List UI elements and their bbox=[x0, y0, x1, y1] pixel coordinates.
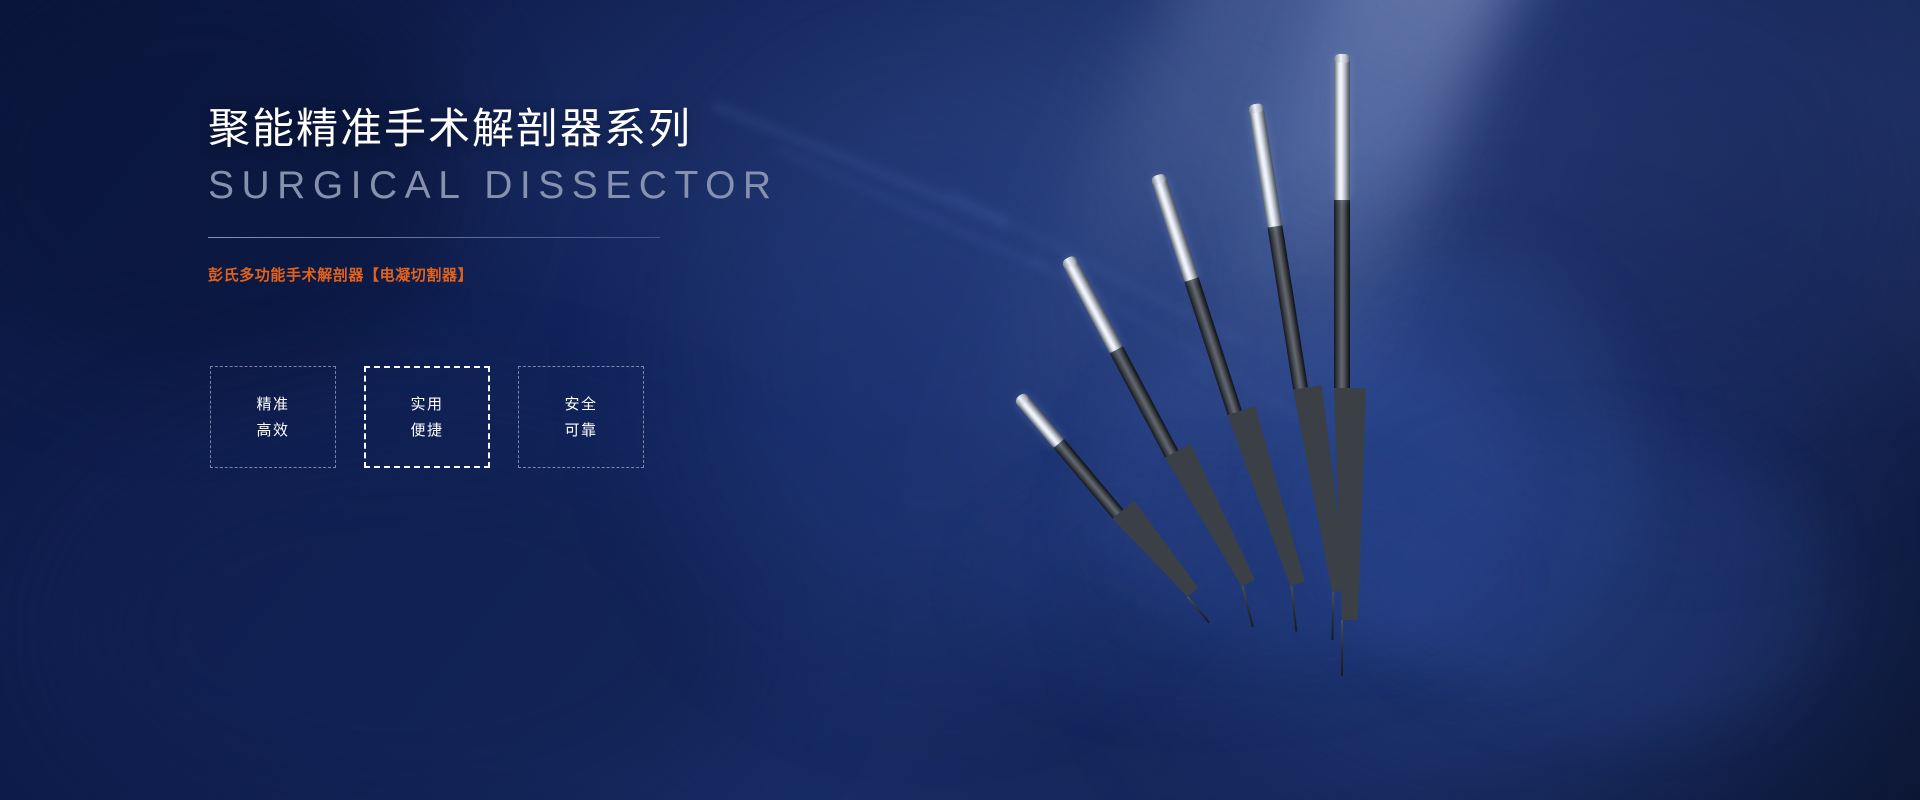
feature-badge-line1: 实用 bbox=[410, 397, 443, 412]
instrument-shaft bbox=[1184, 277, 1242, 415]
background-blob bbox=[60, 420, 760, 800]
feature-badge-line2: 可靠 bbox=[564, 423, 597, 438]
product-name-label: 彭氏多功能手术解剖器【电凝切割器】 bbox=[208, 268, 828, 283]
product-image-surgical-dissectors bbox=[960, 0, 1920, 800]
instrument-dissector-1 bbox=[1014, 392, 1215, 628]
instrument-taper bbox=[1113, 500, 1204, 601]
instrument-dissector-5 bbox=[1334, 54, 1350, 676]
instrument-handle bbox=[1061, 254, 1123, 353]
instrument-tip bbox=[1187, 596, 1210, 623]
instrument-handle bbox=[1014, 392, 1065, 448]
instrument-handle bbox=[1150, 173, 1198, 282]
feature-badge-line2: 便捷 bbox=[410, 423, 443, 438]
banner-copy: 聚能精准手术解剖器系列 SURGICAL DISSECTOR 彭氏多功能手术解剖… bbox=[208, 108, 828, 283]
instrument-handle bbox=[1248, 103, 1282, 228]
feature-badge-line2: 高效 bbox=[256, 423, 289, 438]
page-title: 聚能精准手术解剖器系列 bbox=[208, 108, 828, 150]
feature-badge-line1: 精准 bbox=[256, 397, 289, 412]
divider bbox=[208, 237, 660, 238]
feature-badge-precision[interactable]: 精准 高效 bbox=[210, 366, 336, 468]
feature-badge-list: 精准 高效 实用 便捷 安全 可靠 bbox=[210, 366, 644, 468]
instrument-shaft bbox=[1334, 200, 1350, 388]
hero-banner: 聚能精准手术解剖器系列 SURGICAL DISSECTOR 彭氏多功能手术解剖… bbox=[0, 0, 1920, 800]
instrument-handle bbox=[1334, 54, 1350, 200]
instrument-tip bbox=[1241, 586, 1253, 627]
instrument-shaft bbox=[1053, 439, 1123, 518]
instrument-taper bbox=[1334, 388, 1366, 620]
feature-badge-safety[interactable]: 安全 可靠 bbox=[518, 366, 644, 468]
instrument-shaft bbox=[1110, 346, 1179, 457]
feature-badge-practical[interactable]: 实用 便捷 bbox=[364, 366, 490, 468]
page-subtitle-english: SURGICAL DISSECTOR bbox=[208, 166, 828, 205]
feature-badge-line1: 安全 bbox=[564, 397, 597, 412]
instrument-tip bbox=[1290, 586, 1297, 632]
instrument-shaft bbox=[1267, 225, 1307, 389]
instrument-tip bbox=[1341, 620, 1343, 676]
